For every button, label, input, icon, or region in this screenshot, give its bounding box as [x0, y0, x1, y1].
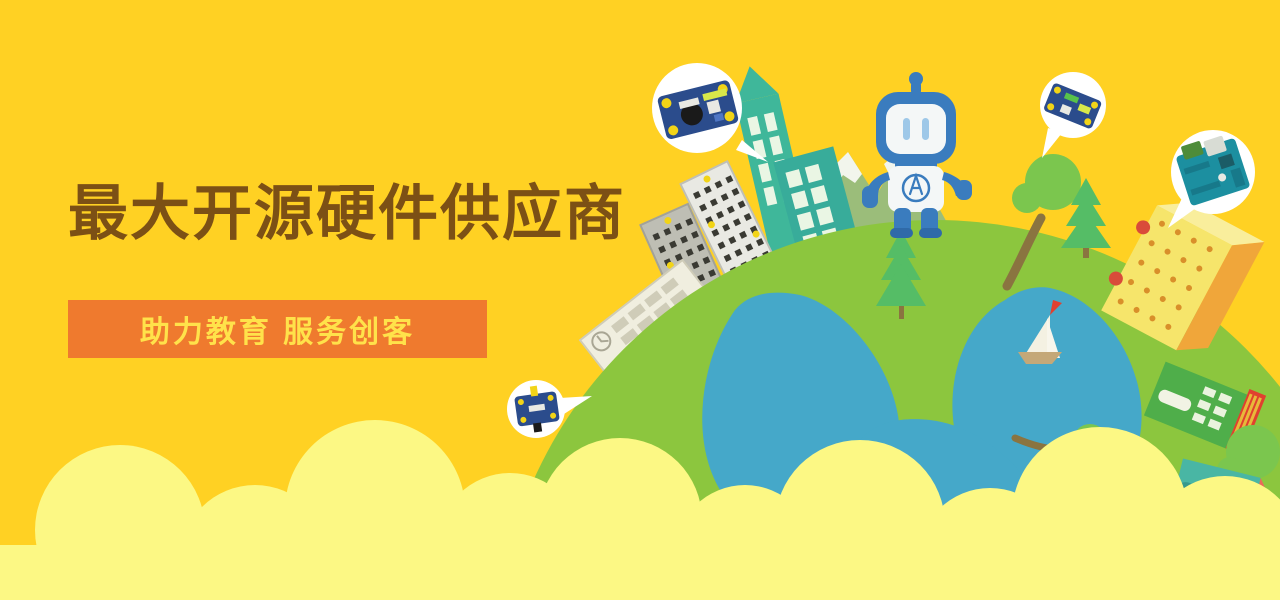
robot-right-arm	[956, 180, 972, 200]
promo-banner: 最大开源硬件供应商 助力教育 服务创客	[0, 0, 1280, 600]
robot-face	[886, 104, 946, 154]
headline-block: 最大开源硬件供应商 助力教育 服务创客	[68, 182, 668, 245]
subtitle-text: 助力教育 服务创客	[140, 307, 415, 351]
subtitle-ribbon: 助力教育 服务创客	[68, 300, 487, 358]
page-title: 最大开源硬件供应商	[68, 182, 668, 245]
robot-left-arm	[862, 186, 878, 208]
